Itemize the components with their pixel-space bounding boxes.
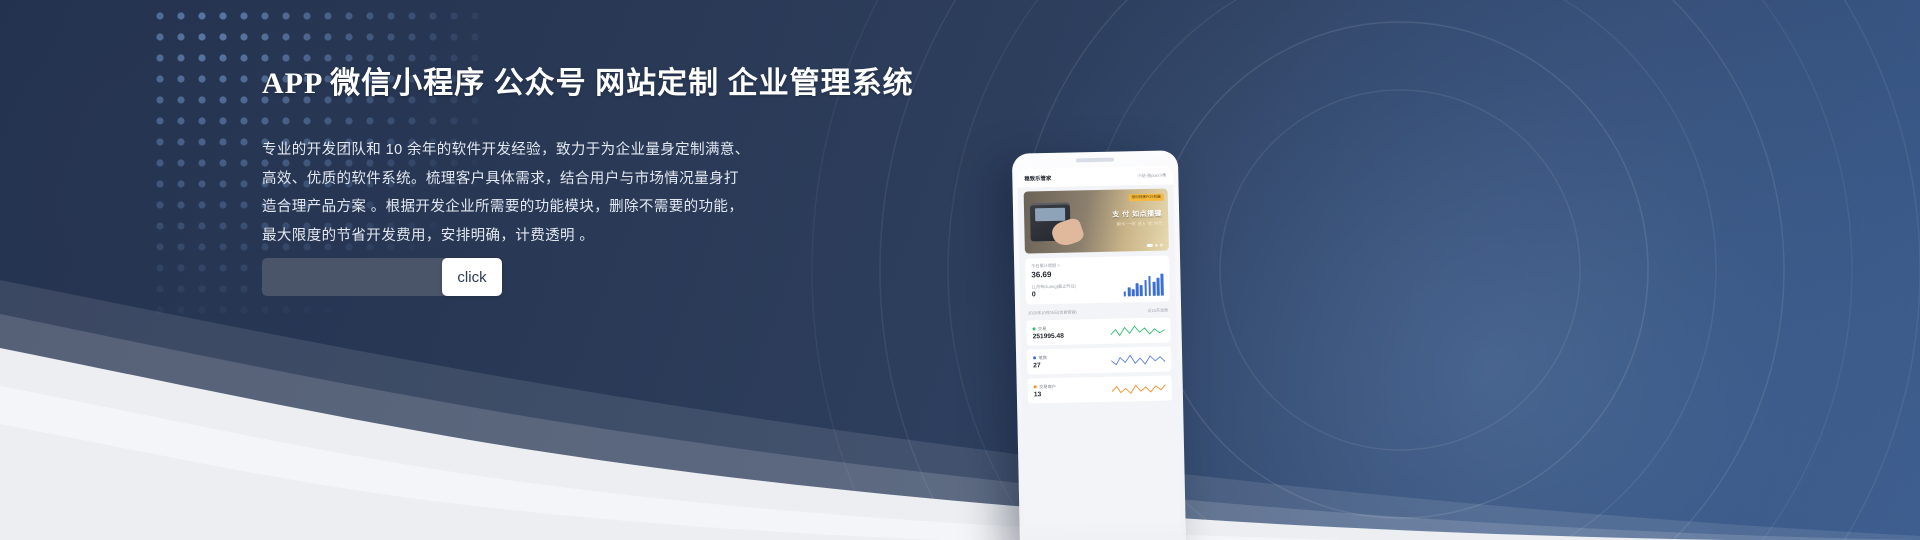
app-account-label: 小贴-驰pos小黄 <box>1137 173 1166 180</box>
metric-value: 251995.48 <box>1033 332 1064 340</box>
metric-row-left: 交易商户 13 <box>1034 383 1057 397</box>
metric-label-wrap: 交易商户 <box>1034 383 1056 389</box>
list-header-date: 2020年10月05日(仅自营销) <box>1028 309 1077 316</box>
list-header: 2020年10月05日(仅自营销) 近15天走势 <box>1028 308 1168 317</box>
description-line-1: 专业的开发团队和 10 余年的软件开发经验，致力于为企业量身定制满意、 <box>262 136 762 165</box>
metric-label-wrap: 交易 <box>1032 325 1063 332</box>
mini-bar <box>1136 283 1139 296</box>
metric-value: 13 <box>1034 390 1056 397</box>
status-dot-icon <box>1033 356 1036 359</box>
mini-bar <box>1153 282 1156 296</box>
sparkline-chart <box>1111 351 1165 369</box>
description-line-4: 最大限度的节省开发费用，安排明确，计费透明 。 <box>262 222 762 251</box>
contact-input[interactable] <box>262 258 462 296</box>
mini-bar <box>1132 289 1135 296</box>
metric-row[interactable]: 交易 251995.48 <box>1026 317 1170 345</box>
app-topbar: 稳致乐管家 小贴-驰pos小黄 <box>1017 165 1173 187</box>
hero-description: 专业的开发团队和 10 余年的软件开发经验，致力于为企业量身定制满意、 高效、优… <box>262 136 762 250</box>
click-button[interactable]: click <box>442 258 502 296</box>
page-title: APP 微信小程序 公众号 网站定制 企业管理系统 <box>262 58 1002 102</box>
promo-tag: 限时特惠POS机器 <box>1129 194 1164 202</box>
screen-bottom-fade <box>1024 516 1181 540</box>
sparkline-chart <box>1112 380 1166 398</box>
cta-bar: click <box>262 258 460 296</box>
phone-mockup: 稳致乐管家 小贴-驰pos小黄 限时特惠POS机器 支 付 如点播键 刷卡 '一… <box>1012 150 1186 540</box>
mini-bar <box>1140 285 1143 296</box>
promo-subtext: 刷卡 '一收' 进入 '收' 时代 <box>1117 221 1163 228</box>
status-dot-icon <box>1032 327 1035 330</box>
metric-label: 笔数 <box>1039 355 1048 361</box>
hero-banner: APP 微信小程序 公众号 网站定制 企业管理系统 专业的开发团队和 10 余年… <box>0 0 1920 540</box>
app-name: 稳致乐管家 <box>1024 174 1051 183</box>
phone-body: 稳致乐管家 小贴-驰pos小黄 限时特惠POS机器 支 付 如点播键 刷卡 '一… <box>1012 150 1186 540</box>
metric-row-left: 交易 251995.48 <box>1032 325 1063 340</box>
mini-bar <box>1157 278 1160 296</box>
mini-bar <box>1148 276 1151 296</box>
metric-label: 交易 <box>1038 326 1047 332</box>
promo-banner[interactable]: 限时特惠POS机器 支 付 如点播键 刷卡 '一收' 进入 '收' 时代 <box>1024 189 1169 254</box>
carousel-dot[interactable] <box>1147 244 1153 247</box>
description-line-2: 高效、优质的软件系统。梳理客户具体需求，结合用户与市场情况量身打 <box>262 165 762 194</box>
carousel-dot[interactable] <box>1160 244 1163 247</box>
metric-label: 交易商户 <box>1039 383 1056 389</box>
description-line-3: 造合理产品方案 。根据开发企业所需要的功能模块，删除不需要的功能， <box>262 193 762 222</box>
hero-copy: APP 微信小程序 公众号 网站定制 企业管理系统 专业的开发团队和 10 余年… <box>262 58 1002 250</box>
sparkline-chart <box>1110 322 1164 340</box>
status-dot-icon <box>1034 385 1037 388</box>
stats-card: 今日累计提额 > 36.69 11月布During(截止昨日) 0 <box>1025 256 1170 305</box>
carousel-dot[interactable] <box>1155 244 1158 247</box>
metric-row[interactable]: 交易商户 13 <box>1028 375 1172 403</box>
list-header-trend: 近15天走势 <box>1148 308 1169 314</box>
phone-screen: 稳致乐管家 小贴-驰pos小黄 限时特惠POS机器 支 付 如点播键 刷卡 '一… <box>1017 165 1181 540</box>
mini-bar-chart <box>1123 274 1164 297</box>
mini-bar <box>1123 291 1126 296</box>
metric-label-wrap: 笔数 <box>1033 355 1047 361</box>
metric-row-left: 笔数 27 <box>1033 355 1047 369</box>
carousel-dots[interactable] <box>1147 244 1163 247</box>
metric-row[interactable]: 笔数 27 <box>1027 346 1171 374</box>
mini-bar <box>1161 274 1164 296</box>
mini-bar <box>1144 280 1147 296</box>
mini-bar <box>1128 287 1131 296</box>
phone-speaker-notch <box>1076 158 1114 163</box>
metric-value: 27 <box>1033 362 1047 369</box>
promo-headline: 支 付 如点播键 <box>1112 209 1162 220</box>
